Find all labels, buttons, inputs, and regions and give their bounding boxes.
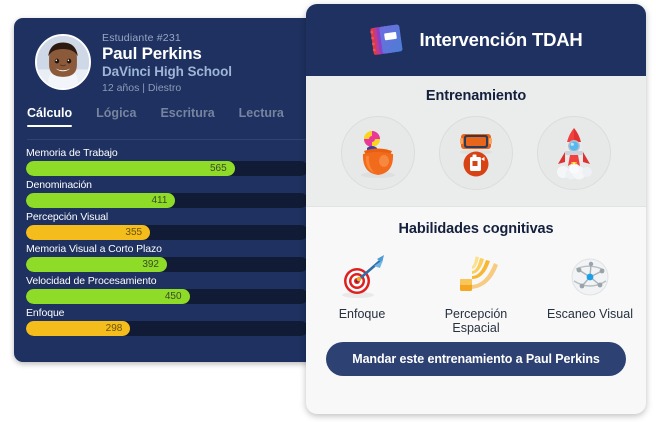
tab-logica[interactable]: Lógica	[96, 106, 136, 127]
metric-fill: 355	[26, 225, 150, 240]
app-root: Estudiante #231 Paul Perkins DaVinci Hig…	[0, 0, 656, 422]
panel-header: Intervención TDAH	[306, 4, 646, 76]
metric-fill: 392	[26, 257, 167, 272]
student-id: Estudiante #231	[102, 32, 181, 44]
signal-waves-icon	[450, 253, 502, 301]
skill-icon-wrap	[428, 249, 524, 305]
metrics-list: Memoria de Trabajo 565 Denominación 411 …	[14, 140, 320, 336]
metric-row: Denominación 411	[14, 179, 320, 208]
skills-section: Habilidades cognitivas	[306, 207, 646, 386]
student-card: Estudiante #231 Paul Perkins DaVinci Hig…	[14, 18, 320, 362]
metric-label: Denominación	[26, 179, 308, 191]
game-rocket[interactable]	[537, 116, 611, 190]
metric-value: 298	[106, 323, 131, 334]
skill-percepcion-espacial[interactable]: Percepción Espacial	[428, 249, 524, 336]
avatar	[35, 34, 91, 90]
training-section: Entrenamiento	[306, 76, 646, 207]
subject-tabs: Cálculo Lógica Escritura Lectura	[27, 102, 307, 140]
metric-row: Percepción Visual 355	[14, 211, 320, 240]
dartboard-icon	[336, 253, 388, 301]
metric-value: 565	[210, 163, 235, 174]
skill-label: Escaneo Visual	[542, 307, 638, 321]
metric-value: 355	[125, 227, 150, 238]
metric-value: 450	[165, 291, 190, 302]
metric-row: Enfoque 298	[14, 307, 320, 336]
send-training-button[interactable]: Mandar este entrenamiento a Paul Perkins	[326, 342, 625, 376]
metric-label: Memoria de Trabajo	[26, 147, 308, 159]
metric-track: 411	[26, 193, 308, 208]
metric-track: 450	[26, 289, 308, 304]
metric-track: 392	[26, 257, 308, 272]
skills-list: Enfoque Percepción Espacial	[306, 249, 646, 336]
candy-jar-icon	[350, 125, 406, 181]
notebooks-icon	[369, 20, 407, 60]
rocket-icon	[545, 124, 603, 182]
network-sphere-icon	[564, 253, 616, 301]
student-header: Estudiante #231 Paul Perkins DaVinci Hig…	[14, 18, 320, 102]
metric-fill: 450	[26, 289, 190, 304]
intervention-panel: Intervención TDAH Entrenamiento	[306, 4, 646, 414]
metric-label: Enfoque	[26, 307, 308, 319]
metric-row: Memoria de Trabajo 565	[14, 147, 320, 176]
metric-label: Memoria Visual a Corto Plazo	[26, 243, 308, 255]
student-meta: 12 años | Diestro	[102, 82, 181, 94]
game-car-fuel[interactable]	[439, 116, 513, 190]
metric-value: 411	[152, 195, 176, 206]
game-candy-jar[interactable]	[341, 116, 415, 190]
metric-label: Percepción Visual	[26, 211, 308, 223]
skill-icon-wrap	[542, 249, 638, 305]
car-fuel-icon	[448, 125, 504, 181]
metric-row: Memoria Visual a Corto Plazo 392	[14, 243, 320, 272]
student-school: DaVinci High School	[102, 64, 232, 79]
metric-label: Velocidad de Procesamiento	[26, 275, 308, 287]
metric-track: 355	[26, 225, 308, 240]
skill-label: Enfoque	[314, 307, 410, 321]
skill-enfoque[interactable]: Enfoque	[314, 249, 410, 336]
training-games	[306, 116, 646, 190]
metric-value: 392	[142, 259, 167, 270]
skill-escaneo-visual[interactable]: Escaneo Visual	[542, 249, 638, 336]
skill-label: Percepción Espacial	[428, 307, 524, 336]
panel-title: Intervención TDAH	[419, 29, 582, 51]
student-name: Paul Perkins	[102, 44, 202, 64]
send-button-wrap: Mandar este entrenamiento a Paul Perkins	[306, 336, 646, 376]
metric-track: 298	[26, 321, 308, 336]
training-title: Entrenamiento	[306, 88, 646, 104]
metric-row: Velocidad de Procesamiento 450	[14, 275, 320, 304]
skill-icon-wrap	[314, 249, 410, 305]
metric-fill: 411	[26, 193, 175, 208]
metric-track: 565	[26, 161, 308, 176]
metric-fill: 565	[26, 161, 235, 176]
tab-escritura[interactable]: Escritura	[160, 106, 214, 127]
skills-title: Habilidades cognitivas	[306, 221, 646, 237]
tab-calculo[interactable]: Cálculo	[27, 106, 72, 127]
tab-lectura[interactable]: Lectura	[239, 106, 284, 127]
student-photo-icon	[37, 36, 89, 88]
metric-fill: 298	[26, 321, 130, 336]
